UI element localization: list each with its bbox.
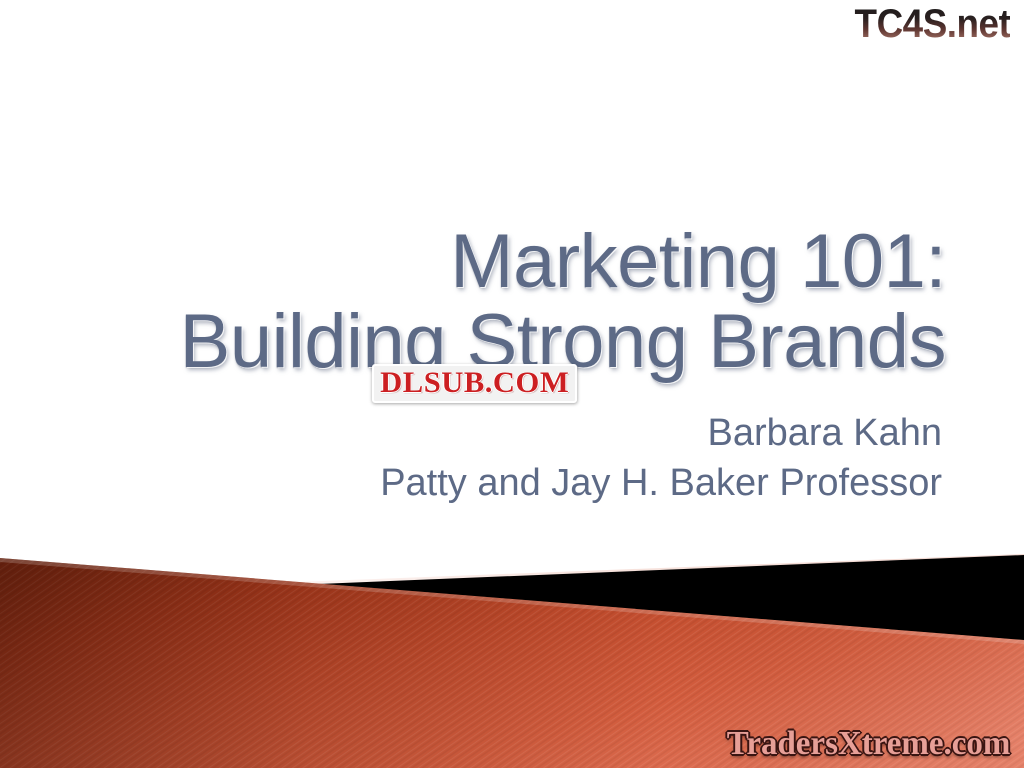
title-line-1: Marketing 101: [0, 222, 946, 302]
tc4s-watermark: TC4S.net [854, 2, 1010, 46]
dlsub-watermark: DLSUB.COM [372, 364, 577, 403]
tradersxtreme-watermark: TradersXtreme.com [726, 724, 1010, 764]
author-name: Barbara Kahn [0, 408, 942, 458]
slide-subtitle: Barbara Kahn Patty and Jay H. Baker Prof… [0, 408, 942, 508]
presentation-slide: TC4S.net Marketing 101: Building Strong … [0, 0, 1024, 768]
page-title: Marketing 101: Building Strong Brands [0, 222, 946, 382]
author-title: Patty and Jay H. Baker Professor [0, 458, 942, 508]
